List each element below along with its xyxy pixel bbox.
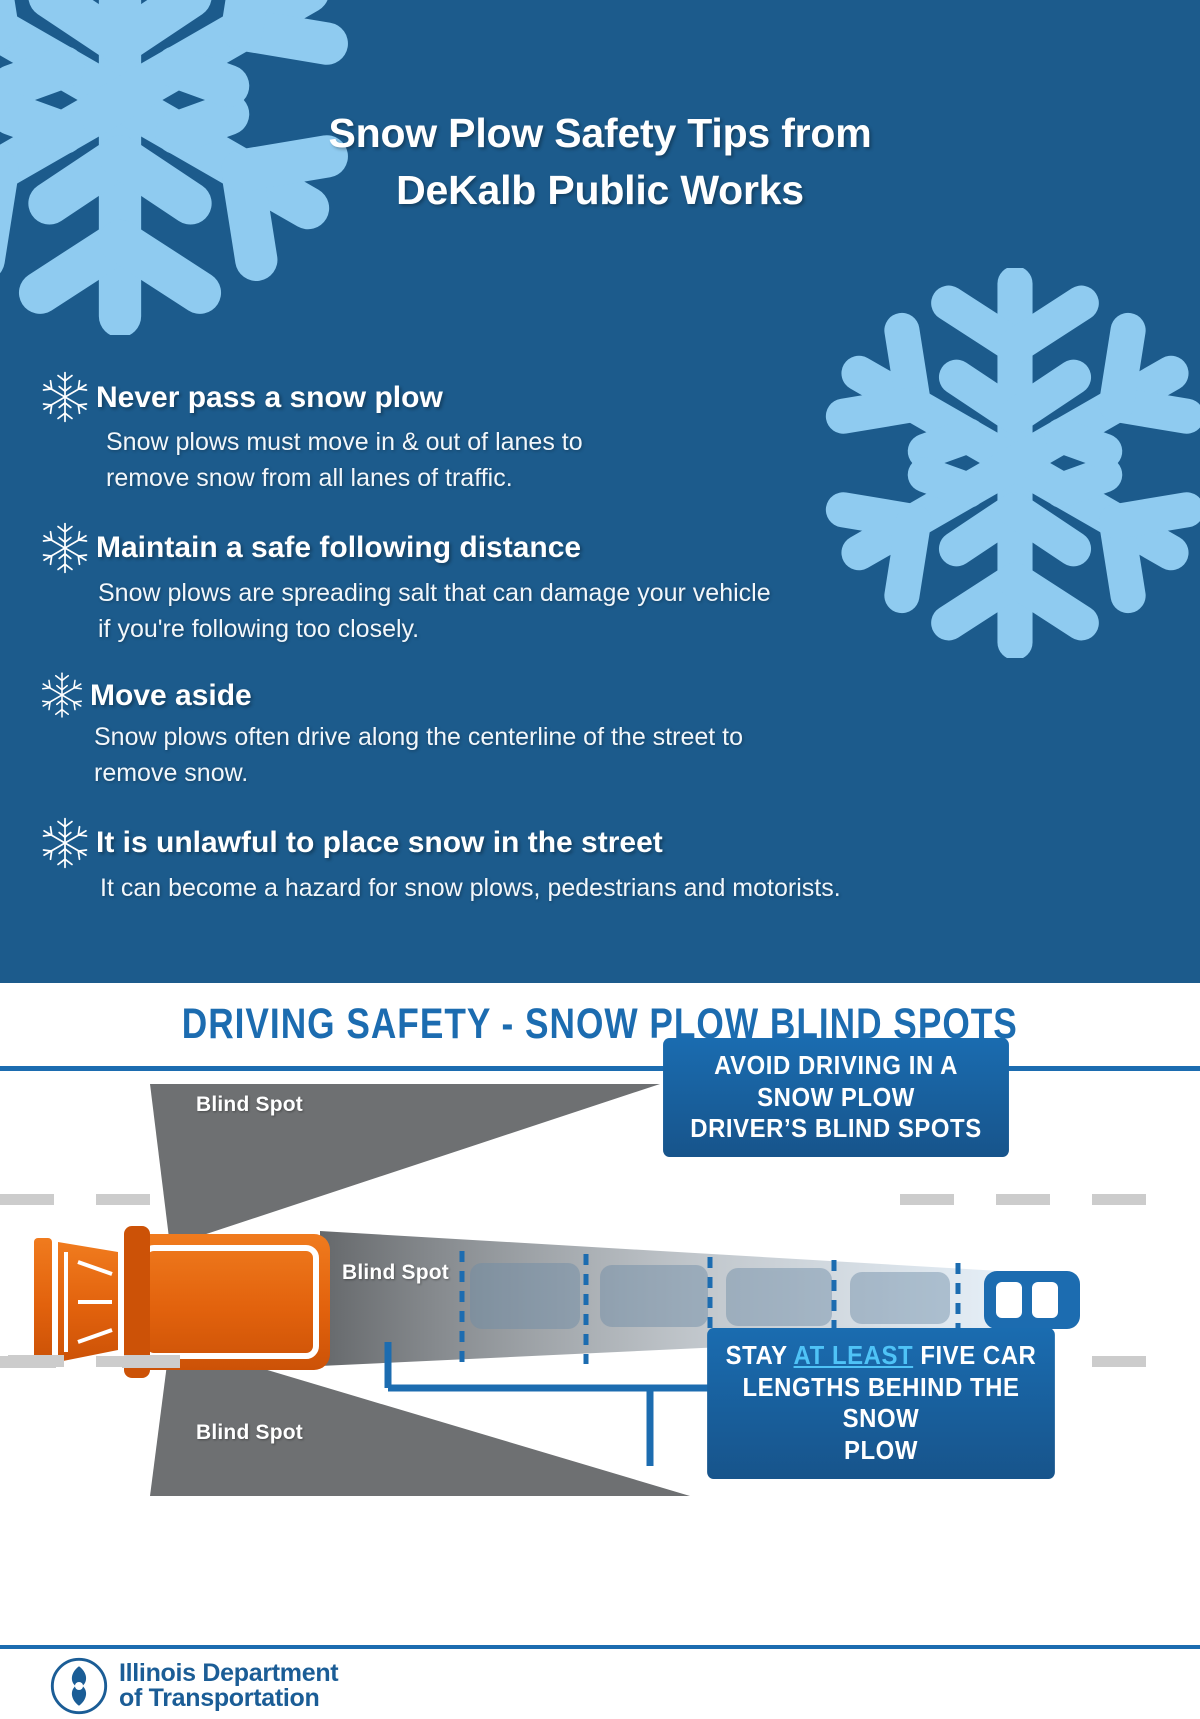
- tip-body-line1: It can become a hazard for snow plows, p…: [100, 870, 1126, 906]
- safety-tips-list: Never pass a snow plow Snow plows must m…: [36, 368, 1126, 906]
- tip-header: Never pass a snow plow: [36, 368, 1126, 426]
- callout-stay-line1: STAY AT LEAST FIVE CAR: [720, 1340, 1042, 1372]
- tip-header: Move aside: [36, 669, 1126, 721]
- blind-spot-label-middle: Blind Spot: [342, 1261, 449, 1285]
- callout-stay-part1: STAY: [726, 1340, 794, 1370]
- callout-avoid-line2: DRIVER’S BLIND SPOTS: [676, 1113, 996, 1145]
- page-title: Snow Plow Safety Tips from DeKalb Public…: [0, 105, 1200, 218]
- tip-body: Snow plows are spreading salt that can d…: [36, 575, 1126, 648]
- tip-body-line2: remove snow from all lanes of traffic.: [106, 460, 1126, 496]
- tip-body-line2: remove snow.: [94, 755, 1126, 791]
- tip-title: Never pass a snow plow: [96, 381, 443, 414]
- idot-logo: Illinois Department of Transportation: [50, 1657, 338, 1715]
- blind-spot-label-bottom: Blind Spot: [196, 1421, 303, 1445]
- footer: Illinois Department of Transportation: [0, 1649, 1200, 1719]
- blind-spot-label-top: Blind Spot: [196, 1093, 303, 1117]
- section-banner: DRIVING SAFETY - SNOW PLOW BLIND SPOTS: [0, 983, 1200, 1066]
- tip-title: Maintain a safe following distance: [96, 531, 581, 564]
- tip-body-line1: Snow plows often drive along the centerl…: [94, 719, 1126, 755]
- snowflake-icon: [36, 368, 94, 426]
- page-title-line1: Snow Plow Safety Tips from: [328, 110, 871, 156]
- list-item: Move aside Snow plows often drive along …: [36, 669, 1126, 792]
- callout-stay-part2: FIVE CAR: [913, 1340, 1036, 1370]
- page-title-line2: DeKalb Public Works: [0, 162, 1200, 219]
- idot-logo-text: Illinois Department of Transportation: [119, 1661, 338, 1712]
- callout-stay-line3: PLOW: [720, 1435, 1042, 1467]
- tip-body-line2: if you're following too closely.: [98, 611, 1126, 647]
- tip-title: It is unlawful to place snow in the stre…: [96, 826, 663, 859]
- callout-avoid-line1: AVOID DRIVING IN A SNOW PLOW: [676, 1050, 996, 1113]
- snowflake-icon: [36, 669, 88, 721]
- tips-panel: Snow Plow Safety Tips from DeKalb Public…: [0, 0, 1200, 983]
- list-item: Never pass a snow plow Snow plows must m…: [36, 368, 1126, 497]
- tip-title: Move aside: [90, 679, 252, 712]
- idot-logo-line2: of Transportation: [119, 1686, 338, 1712]
- list-item: It is unlawful to place snow in the stre…: [36, 814, 1126, 906]
- idot-logo-line1: Illinois Department: [119, 1661, 338, 1687]
- tip-body: Snow plows must move in & out of lanes t…: [36, 424, 1126, 497]
- list-item: Maintain a safe following distance Snow …: [36, 519, 1126, 648]
- tip-body-line1: Snow plows must move in & out of lanes t…: [106, 424, 1126, 460]
- tip-body: Snow plows often drive along the centerl…: [36, 719, 1126, 792]
- idot-seal-icon: [50, 1657, 108, 1715]
- tip-body-line1: Snow plows are spreading salt that can d…: [98, 575, 1126, 611]
- snowflake-icon: [36, 519, 94, 577]
- dash-row-under-bracket: [0, 1356, 178, 1368]
- snowflake-icon: [36, 814, 94, 872]
- tip-body: It can become a hazard for snow plows, p…: [36, 870, 1126, 906]
- tip-header: It is unlawful to place snow in the stre…: [36, 814, 1126, 872]
- callout-stay-highlight: AT LEAST: [794, 1340, 914, 1370]
- callout-stay-back: STAY AT LEAST FIVE CAR LENGTHS BEHIND TH…: [707, 1328, 1055, 1479]
- callout-stay-line2: LENGTHS BEHIND THE SNOW: [720, 1372, 1042, 1435]
- tip-header: Maintain a safe following distance: [36, 519, 1126, 577]
- callout-avoid-blind-spots: AVOID DRIVING IN A SNOW PLOW DRIVER’S BL…: [663, 1038, 1009, 1157]
